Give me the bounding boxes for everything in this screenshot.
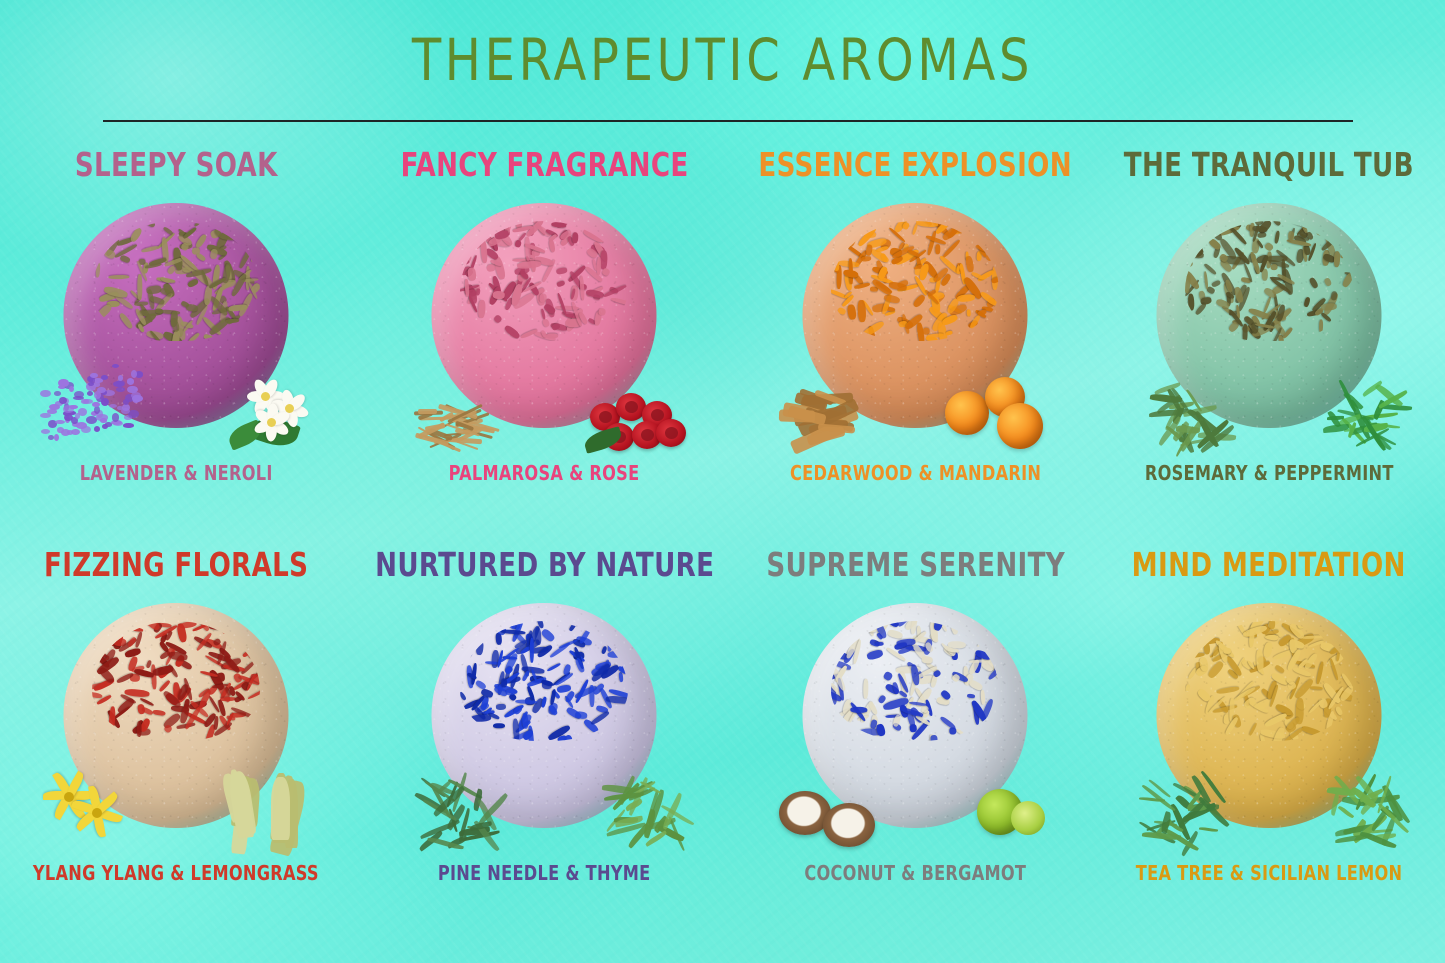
accent-cedarwood-bark — [777, 379, 873, 449]
product-card[interactable]: NURTURED BY NATUREPINE NEEDLE & THYME — [352, 548, 737, 948]
accent-peppermint-leaves — [1317, 371, 1407, 449]
accent-lemon-leaves — [1317, 771, 1407, 849]
botanical-topping — [92, 221, 260, 341]
product-grid: SLEEPY SOAKLAVENDER & NEROLIFANCY FRAGRA… — [0, 148, 1445, 948]
product-image — [775, 199, 1055, 449]
accent-red-rose-bunch — [582, 377, 682, 449]
accent-lavender-sprig — [38, 363, 150, 449]
product-card[interactable]: FANCY FRAGRANCEPALMAROSA & ROSE — [352, 148, 737, 548]
product-image — [404, 199, 684, 449]
accent-coconut-halves — [777, 773, 881, 849]
product-card[interactable]: THE TRANQUIL TUBROSEMARY & PEPPERMINT — [1093, 148, 1445, 548]
accent-tea-tree-sprig — [1131, 771, 1221, 849]
product-title: SLEEPY SOAK — [74, 148, 277, 181]
title-divider — [103, 120, 1353, 122]
product-caption: COCONUT & BERGAMOT — [804, 861, 1026, 885]
accent-thyme-leaves — [592, 771, 682, 849]
product-title: FANCY FRAGRANCE — [400, 148, 688, 181]
product-title: FIZZING FLORALS — [44, 548, 308, 581]
product-caption: PINE NEEDLE & THYME — [438, 861, 651, 885]
accent-pine-needle-sprig — [406, 771, 496, 849]
product-caption: PALMAROSA & ROSE — [449, 461, 640, 485]
product-card[interactable]: SLEEPY SOAKLAVENDER & NEROLI — [0, 148, 352, 548]
product-title: MIND MEDITATION — [1132, 548, 1406, 581]
product-card[interactable]: ESSENCE EXPLOSIONCEDARWOOD & MANDARIN — [737, 148, 1093, 548]
poster-root: THERAPEUTIC AROMAS SLEEPY SOAKLAVENDER &… — [0, 0, 1445, 963]
product-title: NURTURED BY NATURE — [375, 548, 714, 581]
product-image — [1129, 599, 1409, 849]
accent-neroli-blossom — [222, 369, 314, 449]
botanical-topping — [460, 221, 628, 341]
product-card[interactable]: FIZZING FLORALSYLANG YLANG & LEMONGRASS — [0, 548, 352, 948]
product-title: SUPREME SERENITY — [766, 548, 1065, 581]
product-caption: ROSEMARY & PEPPERMINT — [1145, 461, 1394, 485]
product-title: ESSENCE EXPLOSION — [758, 148, 1072, 181]
product-caption: TEA TREE & SICILIAN LEMON — [1136, 861, 1403, 885]
product-title: THE TRANQUIL TUB — [1124, 148, 1414, 181]
product-card[interactable]: MIND MEDITATIONTEA TREE & SICILIAN LEMON — [1093, 548, 1445, 948]
page-title: THERAPEUTIC AROMAS — [58, 26, 1387, 94]
product-image — [775, 599, 1055, 849]
accent-mandarin-fruit — [941, 369, 1053, 449]
accent-ylang-ylang-flower — [38, 773, 124, 849]
product-card[interactable]: SUPREME SERENITYCOCONUT & BERGAMOT — [737, 548, 1093, 948]
accent-rosemary-sprig — [1131, 371, 1221, 449]
product-caption: LAVENDER & NEROLI — [79, 461, 272, 485]
product-image — [404, 599, 684, 849]
product-caption: YLANG YLANG & LEMONGRASS — [33, 861, 319, 885]
botanical-topping — [1185, 221, 1353, 341]
product-image — [1129, 199, 1409, 449]
product-caption: CEDARWOOD & MANDARIN — [790, 461, 1041, 485]
accent-palmarosa-root — [406, 385, 498, 449]
accent-lemongrass-stalks — [218, 763, 314, 849]
product-image — [36, 599, 316, 849]
accent-lime-fruit — [973, 775, 1053, 849]
product-image — [36, 199, 316, 449]
